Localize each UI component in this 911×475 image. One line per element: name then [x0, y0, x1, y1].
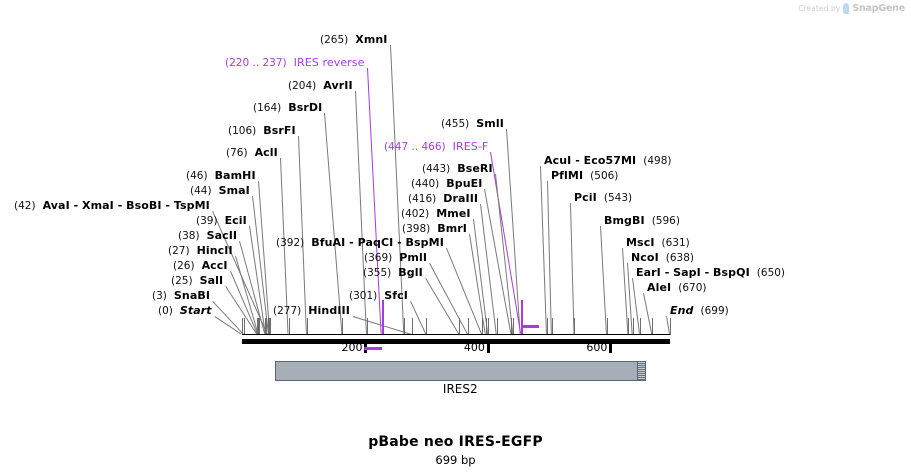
label-position: (416): [408, 193, 436, 205]
cut-site-tick: [547, 318, 548, 335]
label-position: (265): [320, 34, 348, 46]
label-position: (638): [666, 252, 694, 264]
cut-site-tick: [633, 318, 634, 335]
label-enzyme-name: EarI: [636, 266, 661, 279]
enzyme-label-bmgBI[interactable]: BmgBI (596): [604, 215, 680, 227]
label-separator: -: [70, 199, 82, 212]
ruler-label: 400: [464, 341, 487, 354]
label-enzyme-name: PciI: [574, 191, 597, 204]
label-position: (631): [662, 237, 690, 249]
label-separator: -: [571, 154, 583, 167]
label-position: (402): [401, 208, 429, 220]
cut-site-tick: [628, 318, 629, 335]
cut-site-tick: [468, 318, 469, 335]
label-enzyme-name: BspQI: [713, 266, 750, 279]
enzyme-label-aclI[interactable]: (76) AclI: [226, 147, 278, 159]
enzyme-label-avaI-grp[interactable]: (42) AvaI - XmaI - BsoBI - TspMI: [14, 200, 210, 212]
enzyme-label-sfcI[interactable]: (301) SfcI: [349, 290, 408, 302]
ruler-label: 600: [586, 341, 609, 354]
label-separator: -: [345, 236, 357, 249]
label-enzyme-name: SfcI: [384, 289, 408, 302]
label-position: (106): [228, 125, 256, 137]
label-position: (355): [363, 267, 391, 279]
label-enzyme-name: BamHI: [215, 169, 256, 182]
label-enzyme-name: AccI: [202, 259, 228, 272]
leader-line-pmlI: [429, 263, 468, 334]
enzyme-label-bseRI[interactable]: (443) BseRI: [422, 163, 493, 175]
feature-ires2[interactable]: [275, 361, 645, 381]
enzyme-label-ires-f[interactable]: (447 .. 466) IRES-F: [384, 141, 488, 153]
leader-line-bsrDI: [324, 113, 342, 334]
label-enzyme-name: IRES reverse: [294, 56, 365, 69]
label-enzyme-name: Start: [180, 304, 212, 317]
enzyme-label-smaI[interactable]: (44) SmaI: [190, 185, 250, 197]
enzyme-label-bpuEI[interactable]: (440) BpuEI: [411, 178, 482, 190]
label-enzyme-name: HindIII: [308, 304, 350, 317]
enzyme-label-smlI[interactable]: (455) SmlI: [441, 118, 504, 130]
enzyme-label-aleI[interactable]: AleI (670): [647, 282, 706, 294]
ires-reverse-marker: [364, 347, 382, 350]
label-enzyme-name: BmrI: [437, 222, 467, 235]
cut-site-tick: [289, 318, 290, 335]
cut-site-tick: [342, 318, 343, 335]
label-enzyme-name: HincII: [197, 244, 233, 257]
label-enzyme-name: AcuI: [544, 154, 571, 167]
cut-site-tick: [259, 318, 260, 335]
label-enzyme-name: IRES-F: [453, 140, 489, 153]
cut-site-tick: [497, 318, 498, 335]
cut-site-tick: [607, 318, 608, 335]
label-position: (699): [701, 305, 729, 317]
label-enzyme-name: AleI: [647, 281, 671, 294]
feature-hatch-icon: [637, 362, 645, 380]
feature-site-tick: [521, 300, 523, 335]
cut-site-tick: [307, 318, 308, 335]
leader-line-acuI-grp: [540, 166, 547, 334]
cut-site-tick: [412, 318, 413, 335]
ruler-label: 200: [341, 341, 364, 354]
snapgene-watermark: Created by SnapGene: [798, 3, 905, 14]
label-enzyme-name: EciI: [225, 214, 247, 227]
label-enzyme-name: SmaI: [219, 184, 250, 197]
cut-site-tick: [270, 318, 271, 335]
sequence-line-thin: [242, 334, 670, 335]
label-enzyme-name: NcoI: [631, 251, 659, 264]
label-enzyme-name: AclI: [255, 146, 278, 159]
cut-site-tick: [488, 318, 489, 335]
enzyme-label-hindIII[interactable]: (277) HindIII: [273, 305, 350, 317]
enzyme-label-bamHI[interactable]: (46) BamHI: [186, 170, 256, 182]
watermark-created-by-text: Created by: [798, 4, 840, 13]
label-position: (543): [604, 192, 632, 204]
enzyme-label-draIII[interactable]: (416) DraIII: [408, 193, 478, 205]
enzyme-label-sacII[interactable]: (38) SacII: [178, 230, 237, 242]
label-position: (443): [422, 163, 450, 175]
cut-site-tick: [652, 318, 653, 335]
label-position: (398): [402, 223, 430, 235]
label-separator: -: [162, 199, 174, 212]
label-position: (38): [178, 230, 200, 242]
label-enzyme-name: DraIII: [443, 192, 478, 205]
enzyme-label-mscI[interactable]: MscI (631): [626, 237, 690, 249]
label-enzyme-name: BsrDI: [288, 101, 322, 114]
label-position: (447 .. 466): [384, 141, 446, 153]
label-position: (650): [757, 267, 785, 279]
label-enzyme-name: SapI: [673, 266, 701, 279]
label-enzyme-name: BsrFI: [263, 124, 295, 137]
label-position: (26): [173, 260, 195, 272]
label-position: (392): [276, 237, 304, 249]
cut-site-tick: [367, 318, 368, 335]
enzyme-label-eciI[interactable]: (39) EciI: [196, 215, 247, 227]
label-enzyme-name: BseRI: [457, 162, 492, 175]
label-position: (301): [349, 290, 377, 302]
label-enzyme-name: SacII: [207, 229, 238, 242]
label-position: (42): [14, 200, 36, 212]
label-enzyme-name: PaqCI: [358, 236, 394, 249]
label-position: (27): [168, 245, 190, 257]
cut-site-tick: [574, 318, 575, 335]
label-separator: -: [661, 266, 673, 279]
enzyme-label-xmnI[interactable]: (265) XmnI: [320, 34, 388, 46]
sequence-length-subtitle: 699 bp: [0, 453, 911, 467]
enzyme-label-acuI-grp[interactable]: AcuI - Eco57MI (498): [544, 155, 671, 167]
label-enzyme-name: End: [670, 304, 694, 317]
cut-site-tick: [513, 318, 514, 335]
watermark-brand-text: SnapGene: [852, 3, 905, 14]
label-position: (164): [253, 102, 281, 114]
label-position: (39): [196, 215, 218, 227]
label-enzyme-name: BglI: [398, 266, 423, 279]
label-enzyme-name: AvrII: [323, 79, 352, 92]
label-enzyme-name: BspMI: [406, 236, 444, 249]
ruler-tick: [487, 344, 490, 353]
label-enzyme-name: XmaI: [82, 199, 114, 212]
enzyme-label-earI-grp[interactable]: EarI - SapI - BspQI (650): [636, 267, 785, 279]
feature-site-tick: [382, 300, 384, 335]
label-enzyme-name: PflMI: [551, 169, 583, 182]
cut-site-tick: [552, 318, 553, 335]
enzyme-label-hincII[interactable]: (27) HincII: [168, 245, 233, 257]
ires-f-marker: [521, 325, 539, 328]
cut-site-tick: [511, 318, 512, 335]
label-enzyme-name: BsoBI: [126, 199, 161, 212]
plasmid-map-canvas: Created by SnapGene (265) XmnI(220 .. 23…: [0, 0, 911, 475]
page-title: pBabe neo IRES-EGFP: [0, 434, 911, 450]
label-position: (0): [158, 305, 173, 317]
label-position: (596): [652, 215, 680, 227]
cut-site-tick: [670, 318, 671, 335]
cut-site-tick: [426, 318, 427, 335]
cut-site-tick: [486, 318, 487, 335]
label-enzyme-name: BfuAI: [311, 236, 345, 249]
label-position: (506): [590, 170, 618, 182]
label-position: (670): [678, 282, 706, 294]
enzyme-label-ires-rev[interactable]: (220 .. 237) IRES reverse: [225, 57, 365, 69]
cut-site-tick: [459, 318, 460, 335]
label-enzyme-name: SalI: [200, 274, 224, 287]
label-position: (76): [226, 147, 248, 159]
label-separator: -: [114, 199, 126, 212]
label-enzyme-name: SnaBI: [174, 289, 210, 302]
enzyme-label-bglI[interactable]: (355) BglI: [363, 267, 423, 279]
label-position: (498): [643, 155, 671, 167]
label-enzyme-name: BpuEI: [446, 177, 482, 190]
label-enzyme-name: MmeI: [436, 207, 470, 220]
enzyme-label-salI[interactable]: (25) SalI: [171, 275, 223, 287]
feature-label-ires2: IRES2: [275, 382, 645, 396]
snapgene-logo-icon: [843, 3, 849, 14]
cut-site-tick: [244, 318, 245, 335]
label-enzyme-name: AvaI: [43, 199, 70, 212]
label-separator: -: [701, 266, 713, 279]
cut-site-tick: [404, 318, 405, 335]
label-enzyme-name: MscI: [626, 236, 655, 249]
label-enzyme-name: TspMI: [174, 199, 210, 212]
leader-line-pciI: [570, 203, 574, 334]
label-enzyme-name: SmlI: [476, 117, 504, 130]
label-position: (369): [364, 252, 392, 264]
leader-line-pflMI: [547, 181, 552, 334]
enzyme-label-bmrI[interactable]: (398) BmrI: [402, 223, 467, 235]
cut-site-tick: [640, 318, 641, 335]
label-position: (440): [411, 178, 439, 190]
label-position: (204): [288, 80, 316, 92]
label-position: (46): [186, 170, 208, 182]
label-enzyme-name: BmgBI: [604, 214, 645, 227]
enzyme-label-ncoI[interactable]: NcoI (638): [631, 252, 694, 264]
enzyme-label-pciI[interactable]: PciI (543): [574, 192, 632, 204]
enzyme-label-mmeI[interactable]: (402) MmeI: [401, 208, 471, 220]
label-position: (25): [171, 275, 193, 287]
leader-line-bmgBI: [600, 226, 607, 334]
enzyme-label-pflMI[interactable]: PflMI (506): [551, 170, 618, 182]
label-position: (455): [441, 118, 469, 130]
label-separator: -: [393, 236, 405, 249]
label-enzyme-name: PmlI: [399, 251, 427, 264]
label-enzyme-name: XmnI: [355, 33, 387, 46]
label-enzyme-name: Eco57MI: [584, 154, 637, 167]
enzyme-label-bfuAI-grp[interactable]: (392) BfuAI - PaqCI - BspMI: [276, 237, 444, 249]
enzyme-label-start[interactable]: (0) Start: [158, 305, 212, 317]
enzyme-label-end[interactable]: End (699): [670, 305, 729, 317]
enzyme-label-bsrDI[interactable]: (164) BsrDI: [253, 102, 322, 114]
leader-line-aleI: [643, 293, 652, 334]
label-position: (277): [273, 305, 301, 317]
cut-site-tick: [482, 318, 483, 335]
label-position: (3): [152, 290, 167, 302]
ruler-tick: [609, 344, 612, 353]
enzyme-label-avrII[interactable]: (204) AvrII: [288, 80, 353, 92]
enzyme-label-pmlI[interactable]: (369) PmlI: [364, 252, 427, 264]
label-position: (220 .. 237): [225, 57, 287, 69]
enzyme-label-accI[interactable]: (26) AccI: [173, 260, 228, 272]
label-position: (44): [190, 185, 212, 197]
enzyme-label-snaBI[interactable]: (3) SnaBI: [152, 290, 210, 302]
enzyme-label-bsrFI[interactable]: (106) BsrFI: [228, 125, 296, 137]
